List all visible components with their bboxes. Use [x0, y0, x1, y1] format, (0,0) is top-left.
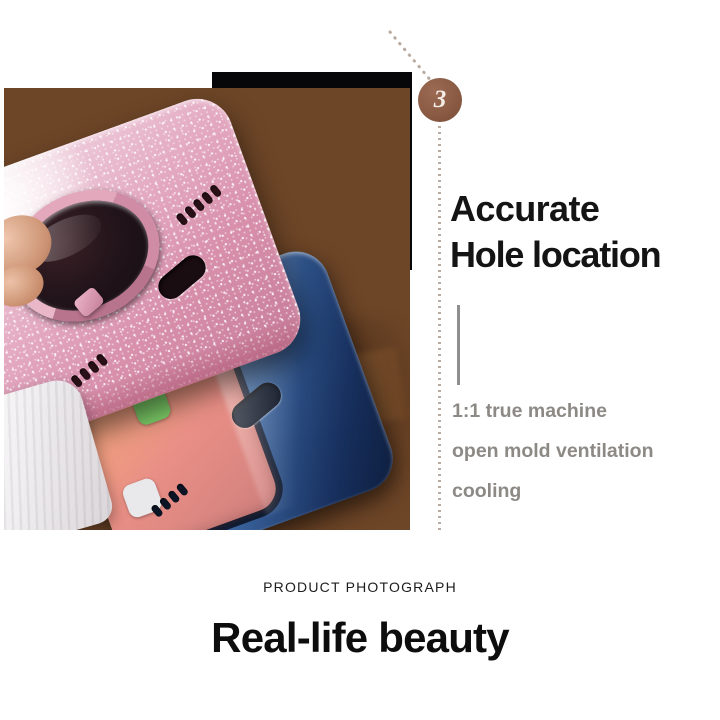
product-feature-graphic: 3 Accurate Hole location 1:1 true machin… [0, 0, 720, 720]
description-line-2: open mold ventilation [452, 432, 720, 472]
caption-title: Real-life beauty [0, 614, 720, 662]
step-number: 3 [434, 87, 447, 112]
description-line-3: cooling [452, 472, 720, 512]
headline-line-1: Accurate [450, 186, 720, 232]
caption-kicker: PRODUCT PHOTOGRAPH [0, 579, 720, 595]
feature-description: 1:1 true machine open mold ventilation c… [452, 392, 720, 512]
dotted-connector-vertical [438, 120, 442, 532]
headline-divider [457, 305, 460, 385]
dotted-connector-diagonal [388, 30, 440, 86]
description-line-1: 1:1 true machine [452, 392, 720, 432]
feature-headline: Accurate Hole location [450, 186, 720, 277]
product-photo [4, 88, 410, 530]
headline-line-2: Hole location [450, 232, 720, 278]
step-number-badge: 3 [418, 78, 462, 122]
